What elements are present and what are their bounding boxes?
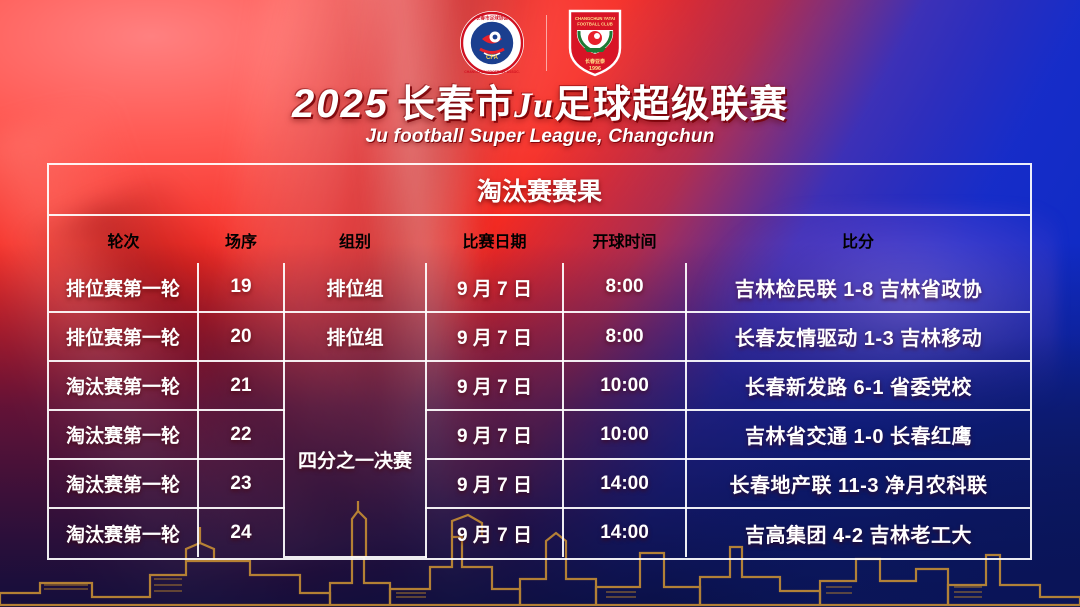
changchun-football-association-logo: CFA 长春市足球协会 CHANGCHUN FOOTBALL ASSOC. <box>458 9 526 77</box>
cell-group: 排位组 <box>284 312 426 361</box>
cell-round: 淘汰赛第一轮 <box>49 410 198 459</box>
cell-round: 淘汰赛第一轮 <box>49 508 198 557</box>
changchun-yatai-fc-logo: CHANGCHUN YATAI FOOTBALL CLUB 长春亚泰 1996 <box>567 8 623 78</box>
results-table-container: 淘汰赛赛果 轮次 场序 组别 比赛日期 开球时间 比分 排位赛第一轮 19 排位… <box>47 163 1032 560</box>
table-caption-row: 淘汰赛赛果 <box>49 165 1030 215</box>
svg-text:FOOTBALL CLUB: FOOTBALL CLUB <box>577 22 613 27</box>
cell-date: 9 月 7 日 <box>426 459 563 508</box>
svg-text:1996: 1996 <box>589 66 601 72</box>
poster-header: CFA 长春市足球协会 CHANGCHUN FOOTBALL ASSOC. CH… <box>0 0 1080 150</box>
column-header-kickoff-time: 开球时间 <box>563 215 686 263</box>
title-part1: 长春市 <box>397 84 514 126</box>
cell-time: 8:00 <box>563 263 686 312</box>
cell-group: 排位组 <box>284 263 426 312</box>
cell-match-no: 20 <box>198 312 284 361</box>
svg-text:长春亚泰: 长春亚泰 <box>584 58 605 65</box>
svg-text:CFA: CFA <box>486 55 499 61</box>
column-header-round: 轮次 <box>49 215 198 263</box>
table-row: 淘汰赛第一轮 21 四分之一决赛 9 月 7 日 10:00 长春新发路 6-1… <box>49 361 1030 410</box>
page-subtitle: Ju football Super League, Changchun <box>0 126 1080 148</box>
svg-text:长春市足球协会: 长春市足球协会 <box>475 15 508 22</box>
subtitle-rest: football Super League, Changchun <box>388 126 714 147</box>
cell-time: 10:00 <box>563 410 686 459</box>
cell-time: 10:00 <box>563 361 686 410</box>
cell-match-no: 22 <box>198 410 284 459</box>
cell-time: 8:00 <box>563 312 686 361</box>
cell-date: 9 月 7 日 <box>426 410 563 459</box>
cell-score: 吉林省交通 1-0 长春红鹰 <box>686 410 1030 459</box>
svg-text:CHANGCHUN YATAI: CHANGCHUN YATAI <box>574 16 614 21</box>
page-title: 2025长春市Ju足球超级联赛 <box>292 84 788 124</box>
cell-round: 排位赛第一轮 <box>49 312 198 361</box>
title-ju-mark: Ju <box>514 85 554 125</box>
cell-score: 吉高集团 4-2 吉林老工大 <box>686 508 1030 557</box>
cell-score: 长春新发路 6-1 省委党校 <box>686 361 1030 410</box>
cell-round: 淘汰赛第一轮 <box>49 459 198 508</box>
poster-canvas: CFA 长春市足球协会 CHANGCHUN FOOTBALL ASSOC. CH… <box>0 0 1080 607</box>
cell-time: 14:00 <box>563 508 686 557</box>
results-table: 淘汰赛赛果 轮次 场序 组别 比赛日期 开球时间 比分 排位赛第一轮 19 排位… <box>49 165 1030 558</box>
cell-match-no: 23 <box>198 459 284 508</box>
table-row: 淘汰赛第一轮 23 9 月 7 日 14:00 长春地产联 11-3 净月农科联 <box>49 459 1030 508</box>
column-header-match-no: 场序 <box>198 215 284 263</box>
logo-divider <box>546 15 547 71</box>
table-row: 排位赛第一轮 19 排位组 9 月 7 日 8:00 吉林检民联 1-8 吉林省… <box>49 263 1030 312</box>
cell-date: 9 月 7 日 <box>426 361 563 410</box>
title-year: 2025 <box>292 82 389 126</box>
cell-group-merged: 四分之一决赛 <box>284 361 426 557</box>
cell-match-no: 21 <box>198 361 284 410</box>
table-row: 排位赛第一轮 20 排位组 9 月 7 日 8:00 长春友情驱动 1-3 吉林… <box>49 312 1030 361</box>
cell-round: 排位赛第一轮 <box>49 263 198 312</box>
column-header-score: 比分 <box>686 215 1030 263</box>
table-caption: 淘汰赛赛果 <box>49 165 1030 215</box>
column-header-date: 比赛日期 <box>426 215 563 263</box>
cell-date: 9 月 7 日 <box>426 508 563 557</box>
cell-round: 淘汰赛第一轮 <box>49 361 198 410</box>
cell-date: 9 月 7 日 <box>426 263 563 312</box>
subtitle-ju-mark: Ju <box>365 126 388 147</box>
column-header-group: 组别 <box>284 215 426 263</box>
cell-score: 长春友情驱动 1-3 吉林移动 <box>686 312 1030 361</box>
cell-date: 9 月 7 日 <box>426 312 563 361</box>
cell-score: 吉林检民联 1-8 吉林省政协 <box>686 263 1030 312</box>
cell-score: 长春地产联 11-3 净月农科联 <box>686 459 1030 508</box>
logo-row: CFA 长春市足球协会 CHANGCHUN FOOTBALL ASSOC. CH… <box>0 8 1080 78</box>
cell-time: 14:00 <box>563 459 686 508</box>
table-row: 淘汰赛第一轮 24 9 月 7 日 14:00 吉高集团 4-2 吉林老工大 <box>49 508 1030 557</box>
svg-text:CHANGCHUN FOOTBALL ASSOC.: CHANGCHUN FOOTBALL ASSOC. <box>464 70 519 74</box>
cell-match-no: 19 <box>198 263 284 312</box>
table-header-row: 轮次 场序 组别 比赛日期 开球时间 比分 <box>49 215 1030 263</box>
title-part2: 足球超级联赛 <box>554 84 788 126</box>
cell-match-no: 24 <box>198 508 284 557</box>
table-row: 淘汰赛第一轮 22 9 月 7 日 10:00 吉林省交通 1-0 长春红鹰 <box>49 410 1030 459</box>
title-block: 2025长春市Ju足球超级联赛 Ju football Super League… <box>0 84 1080 148</box>
